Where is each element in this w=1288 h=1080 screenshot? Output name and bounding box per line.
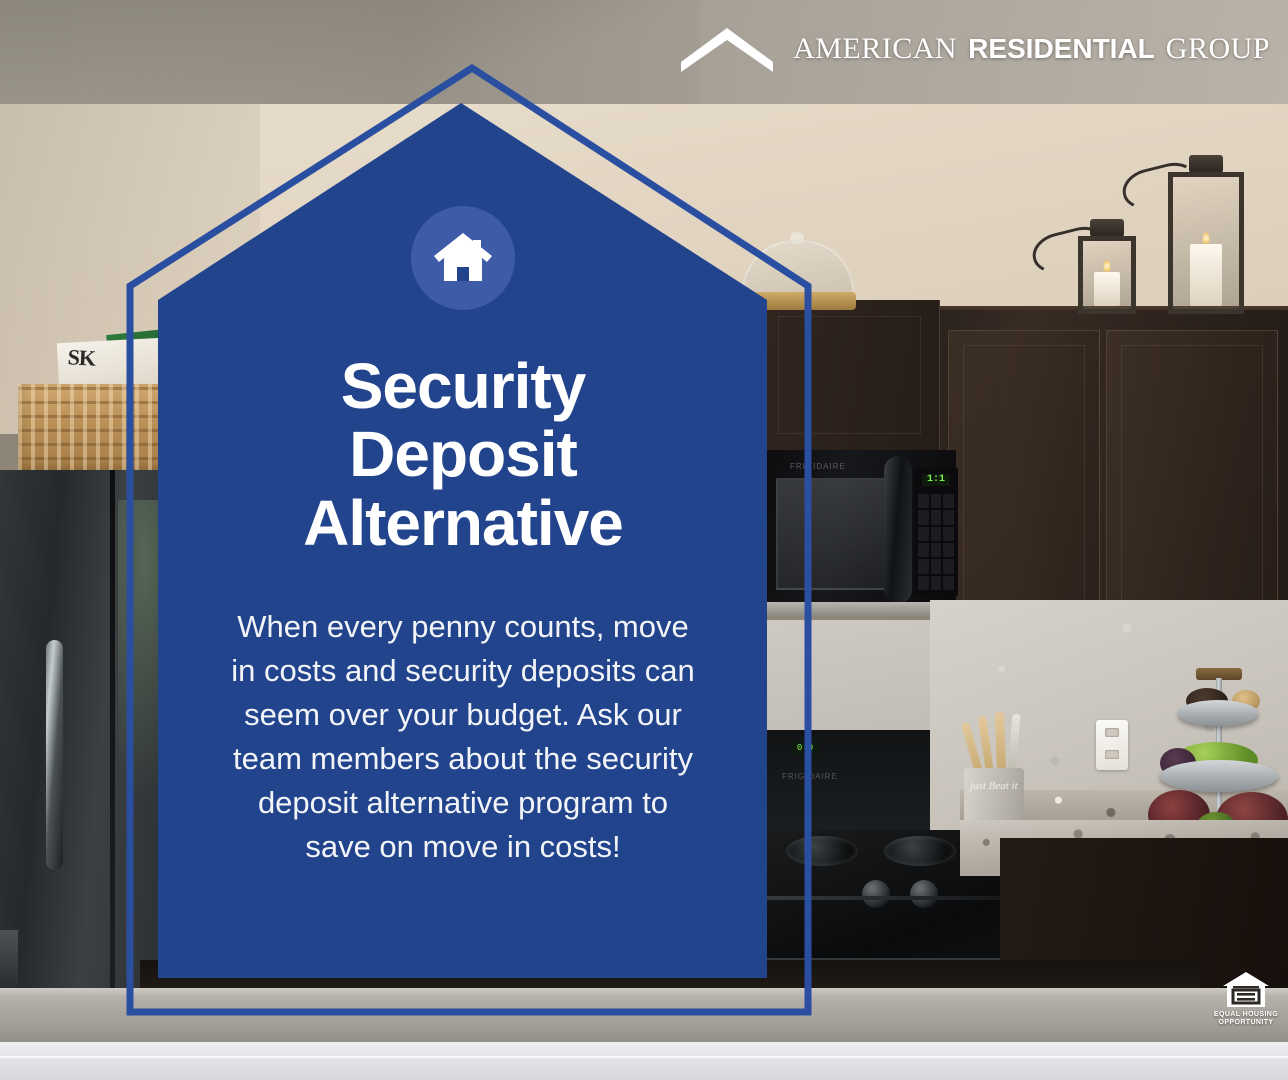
title-line-3: Alternative [193,489,733,557]
brand-logo: AMERICAN RESIDENTIAL GROUP [681,26,1270,72]
body-line-3: seem over your budget. Ask our [191,693,736,737]
title-line-1: Security [193,352,733,420]
body-line-4: team members about the security [191,737,736,781]
title-line-2: Deposit [193,420,733,488]
brand-word-group: GROUP [1166,32,1270,66]
body-line-6: save on move in costs! [191,825,736,869]
graphic-canvas: SK FRIGIDAIRE 1:1 0:0 FRIGIDAIRE [0,0,1288,1080]
eho-line-2: OPPORTUNITY [1214,1019,1278,1028]
body-line-5: deposit alternative program to [191,781,736,825]
badge-content: Security Deposit Alternative When every … [158,100,768,980]
chevron-roof-icon [681,26,773,72]
brand-logo-text: AMERICAN RESIDENTIAL GROUP [793,32,1270,66]
home-icon [432,229,494,287]
home-icon-circle [411,206,515,310]
equal-housing-caption: EQUAL HOUSING OPPORTUNITY [1214,1011,1278,1029]
page-title: Security Deposit Alternative [193,352,733,557]
body-text: When every penny counts, move in costs a… [191,605,736,869]
brand-word-american: AMERICAN [793,32,957,66]
equal-housing-opportunity-logo: EQUAL HOUSING OPPORTUNITY [1210,971,1282,1029]
eho-line-1: EQUAL HOUSING [1214,1011,1278,1020]
brand-word-residential: RESIDENTIAL [968,33,1155,65]
body-line-2: in costs and security deposits can [191,649,736,693]
body-line-1: When every penny counts, move [191,605,736,649]
equal-housing-house-icon [1222,971,1270,1009]
